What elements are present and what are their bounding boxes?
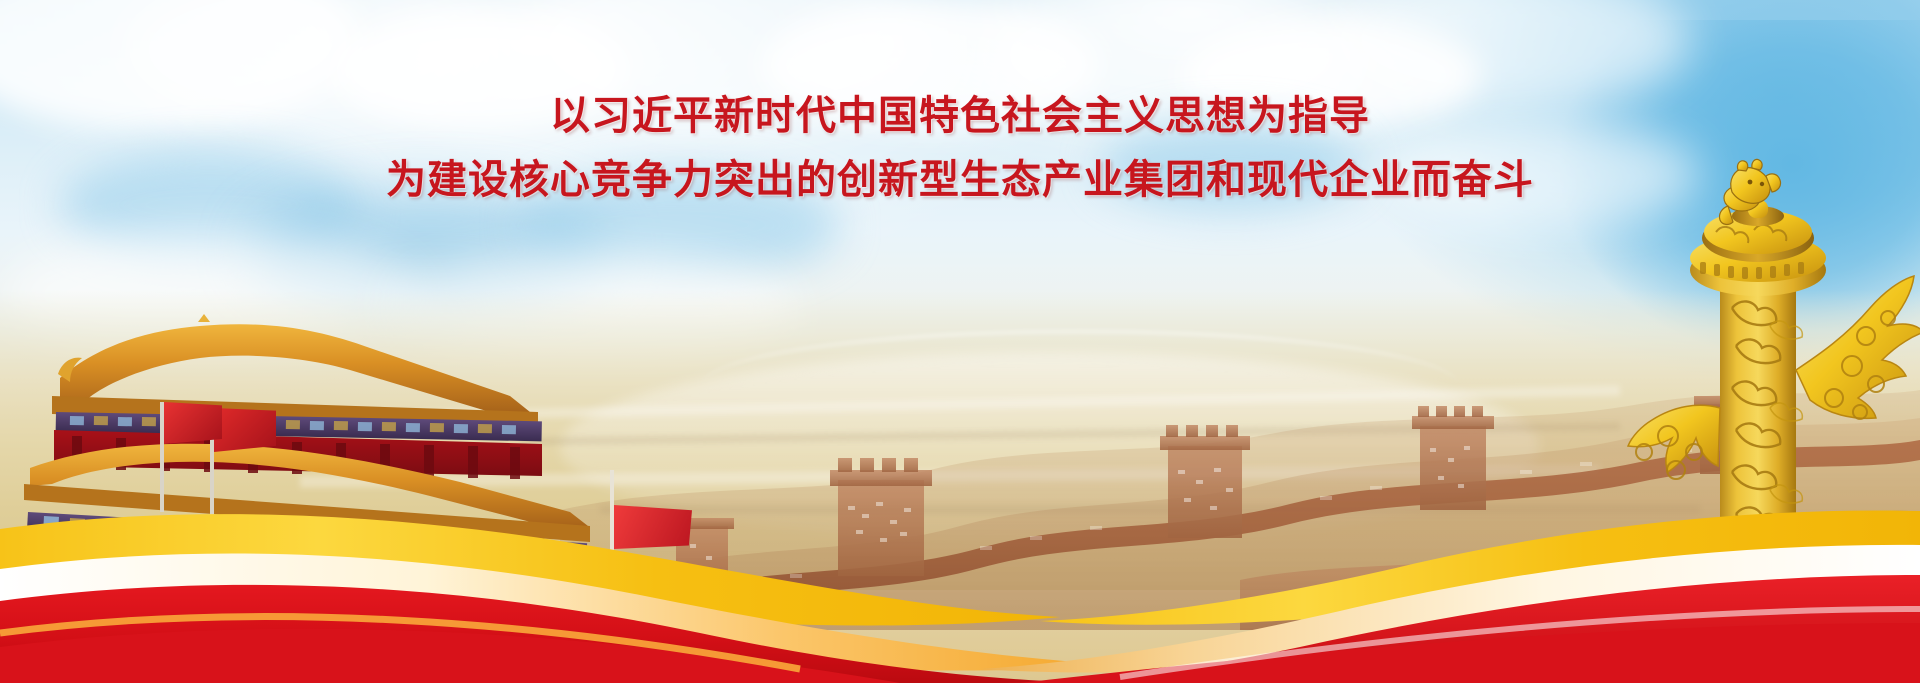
party-theme-banner: 中华人民共和国万岁 世界人民大团结万岁	[0, 0, 1920, 683]
red-flag	[214, 408, 276, 452]
cloud-icon	[1100, 120, 1360, 210]
red-gold-wave-ribbon	[0, 483, 1920, 683]
red-flag	[164, 402, 222, 444]
